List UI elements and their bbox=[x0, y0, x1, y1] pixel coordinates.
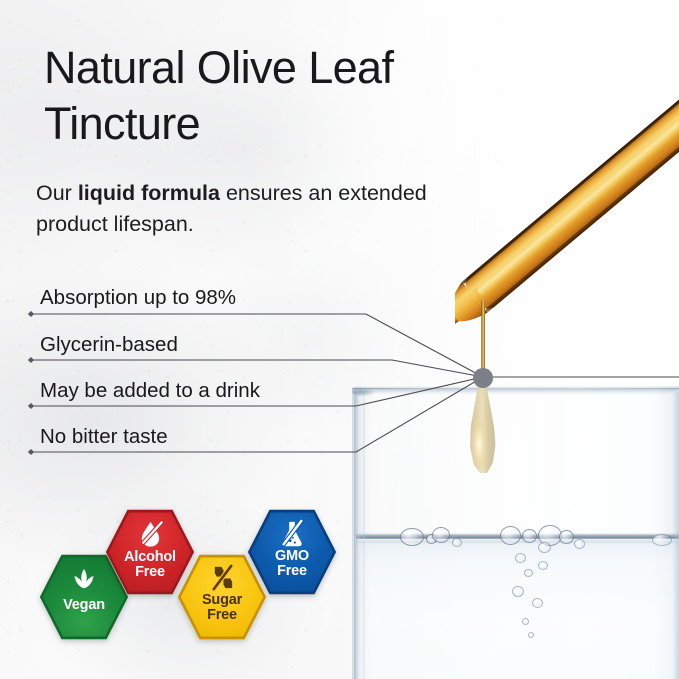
badge-gmo-free-face: GMO Free bbox=[250, 510, 334, 594]
badge-alcohol-free-label-1: Alcohol bbox=[124, 550, 176, 565]
badge-alcohol-free-face: Alcohol Free bbox=[108, 510, 192, 594]
droplet-slash-icon bbox=[135, 519, 166, 550]
badge-gmo-free-label-1: GMO bbox=[275, 549, 309, 564]
badge-sugar-free-face: Sugar Free bbox=[180, 555, 264, 639]
flask-slash-icon bbox=[277, 519, 307, 549]
feature-item-no-bitter-taste: No bitter taste bbox=[40, 425, 168, 449]
badge-vegan-label: Vegan bbox=[63, 598, 105, 613]
badge-sugar-free-label-2: Free bbox=[207, 608, 237, 623]
product-infographic: Natural Olive Leaf Tincture Our liquid f… bbox=[0, 0, 679, 679]
leaf-icon bbox=[67, 564, 101, 598]
feature-item-absorption: Absorption up to 98% bbox=[40, 286, 236, 310]
feature-item-added-to-drink: May be added to a drink bbox=[40, 379, 260, 403]
feature-item-glycerin: Glycerin-based bbox=[40, 333, 178, 357]
sugar-cubes-slash-icon bbox=[207, 564, 238, 593]
badge-gmo-free-label-2: Free bbox=[277, 564, 307, 579]
certification-badges: Vegan Alcohol Free bbox=[38, 498, 368, 648]
badge-sugar-free-label-1: Sugar bbox=[202, 593, 242, 608]
badge-alcohol-free-label-2: Free bbox=[135, 565, 165, 580]
badge-vegan-face: Vegan bbox=[42, 555, 126, 639]
